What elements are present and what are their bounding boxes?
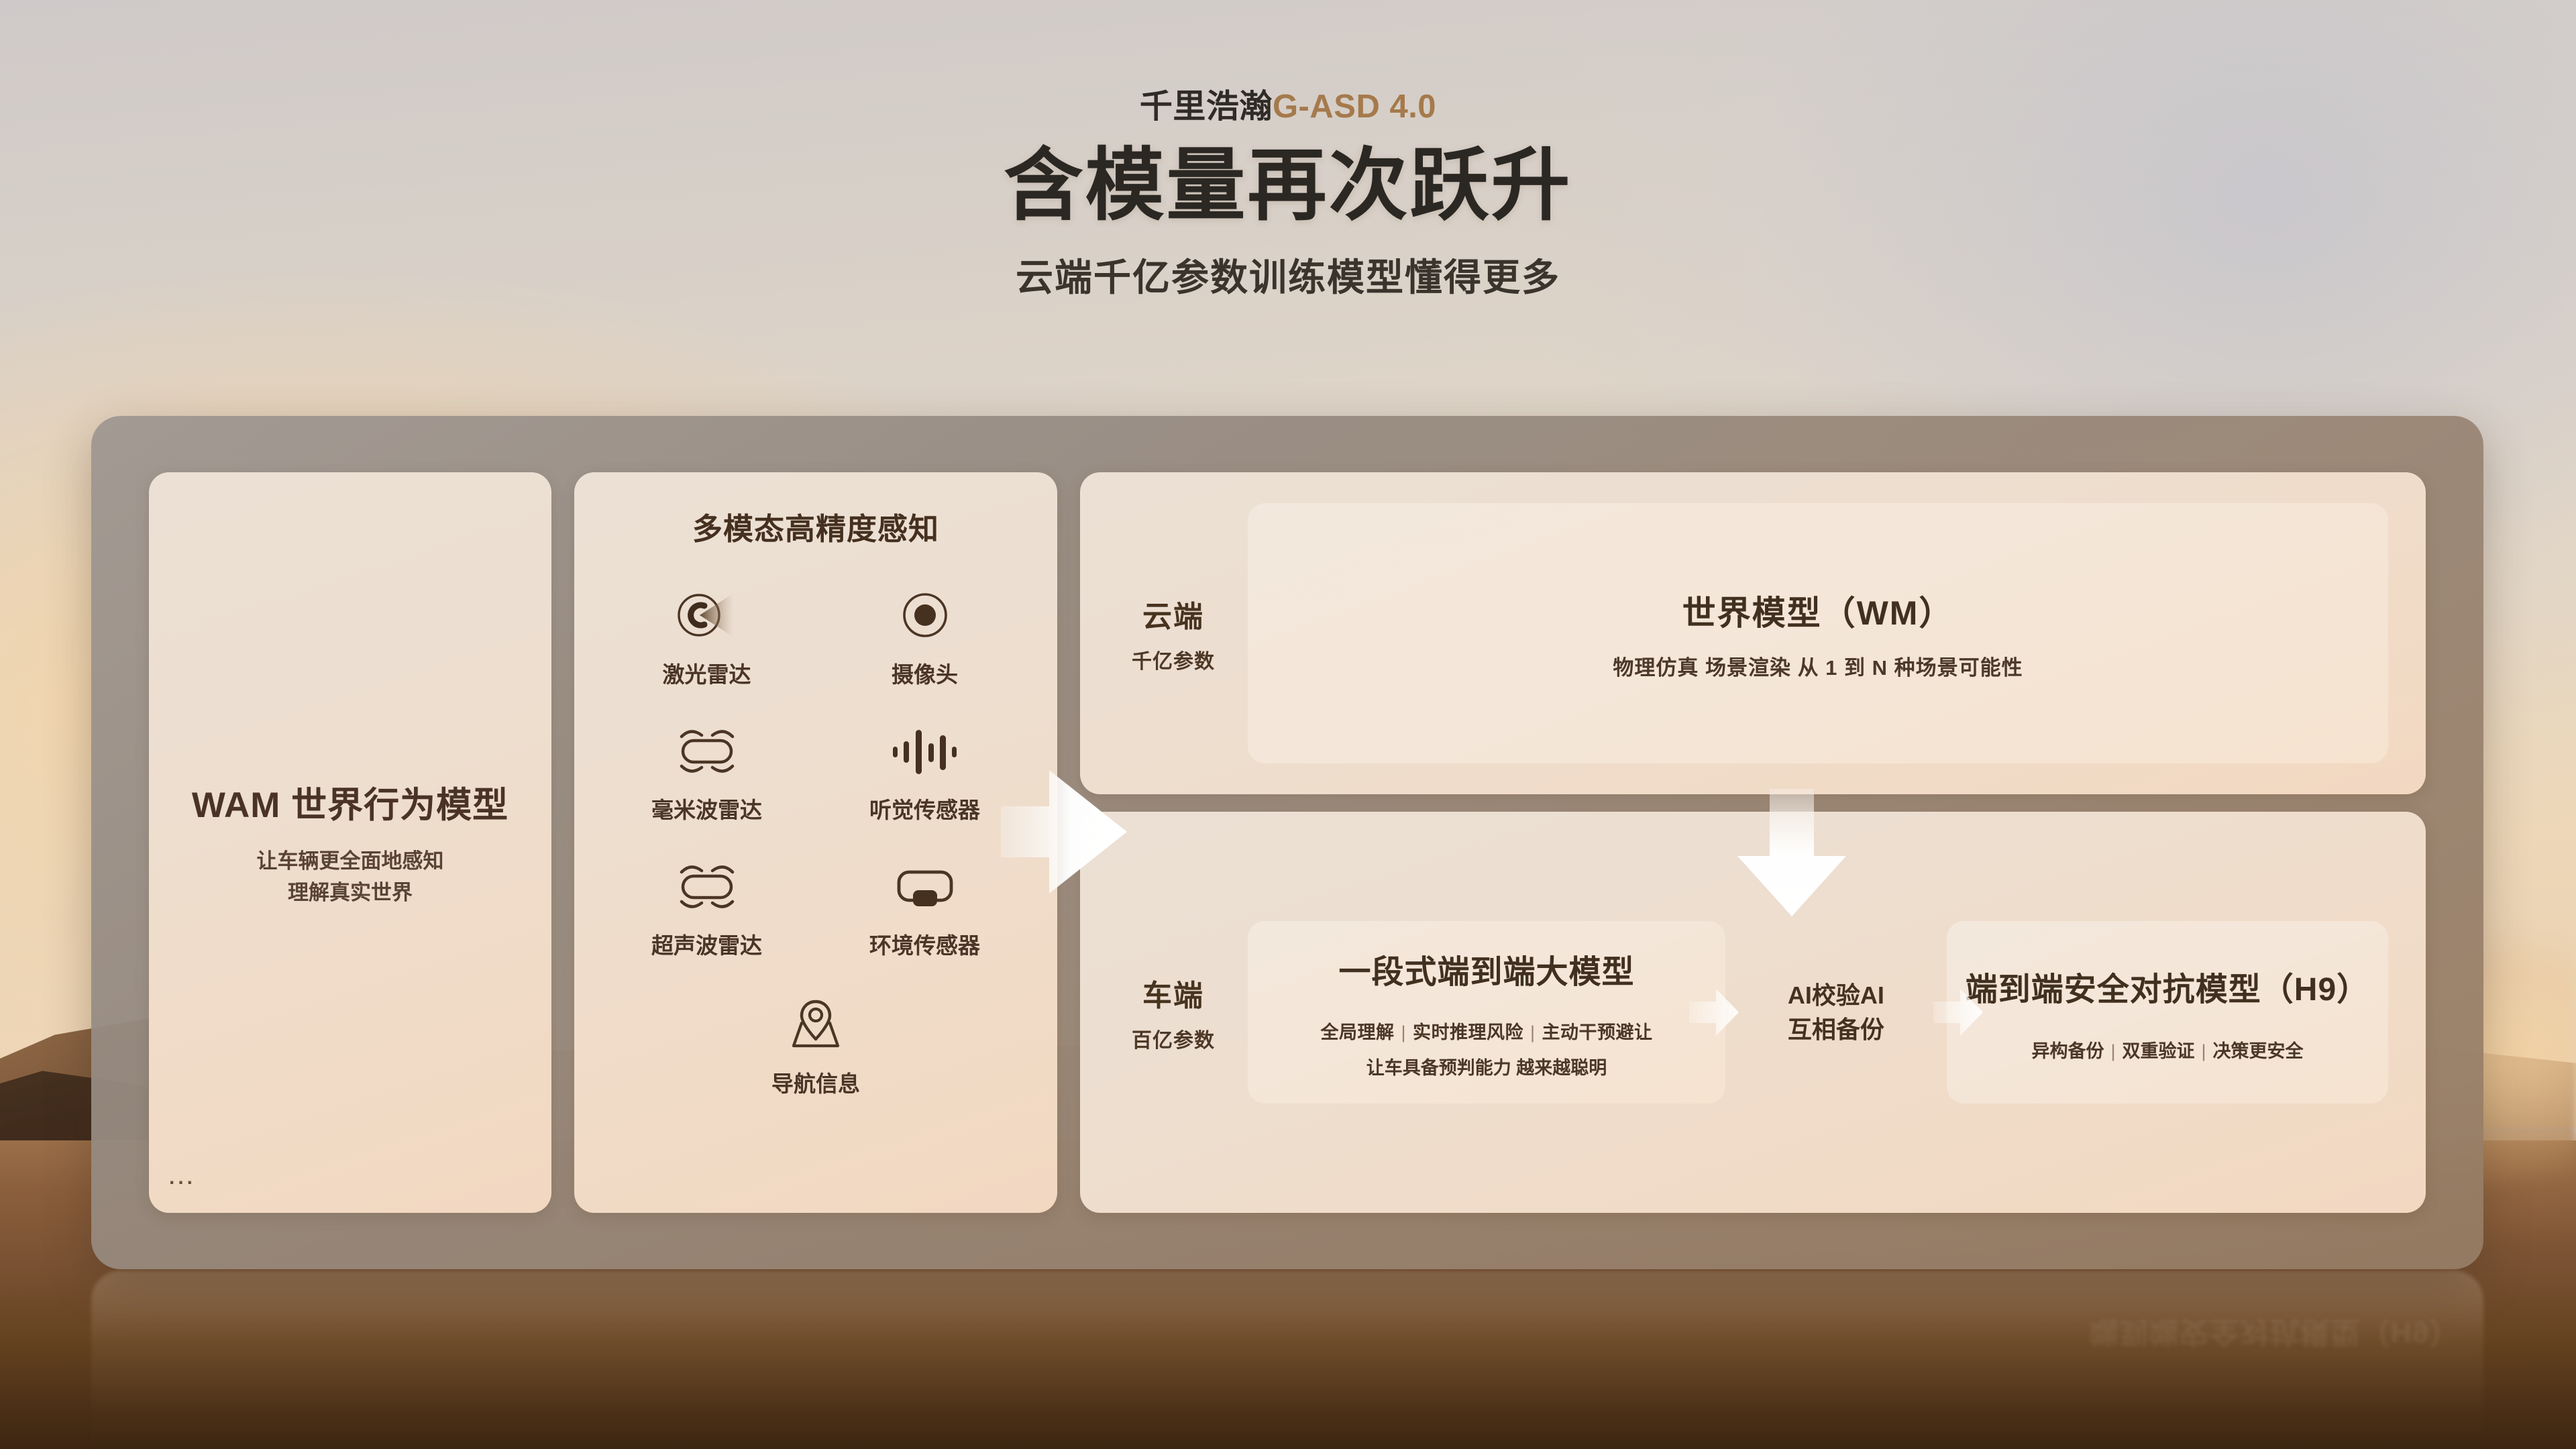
sensor-item-lidar: 激光雷达 (606, 580, 808, 689)
wam-card: WAM 世界行为模型 让车辆更全面地感知 理解真实世界 ... (149, 472, 551, 1213)
h9-title: 端到端安全对抗模型（H9） (1966, 963, 2369, 1010)
sensors-card: 多模态高精度感知 激光雷达 (574, 472, 1057, 1213)
end-to-end-tags: 全局理解|实时推理风险|主动干预避让 (1320, 1018, 1652, 1044)
cloud-tier-param: 千亿参数 (1099, 645, 1248, 674)
board-reflection (91, 1271, 2483, 1449)
sensor-item-ultrasonic-radar: 超声波雷达 (606, 851, 808, 960)
sensor-item-audio: 听觉传感器 (824, 716, 1026, 824)
h9-tag-2: 双重验证 (2122, 1041, 2194, 1061)
page-subtitle: 云端千亿参数训练模型懂得更多 (0, 248, 2576, 302)
page-title: 含模量再次跃升 (0, 142, 2576, 230)
tag-separator: | (2110, 1041, 2115, 1061)
h9-card-reflection: 端到端安全对抗模型（H9） (1999, 1309, 2549, 1354)
sensor-item-navigation: 导航信息 (715, 989, 916, 1098)
end-to-end-tag-1: 全局理解 (1320, 1022, 1394, 1042)
navigation-icon (779, 989, 853, 1059)
sensor-label: 导航信息 (771, 1066, 860, 1098)
ultrasonic-radar-icon (668, 851, 746, 921)
sensor-item-environment: 环境传感器 (824, 851, 1026, 960)
sensors-title: 多模态高精度感知 (692, 504, 939, 548)
sensor-item-mmwave-radar: 毫米波雷达 (606, 716, 808, 824)
world-model-title: 世界模型（WM） (1682, 586, 1954, 635)
cloud-tier-name: 云端 (1099, 592, 1248, 635)
ai-cross-check-line2: 互相备份 (1788, 1012, 1884, 1046)
sensor-label: 听觉传感器 (869, 792, 980, 824)
vehicle-tier-label: 车端 百亿参数 (1080, 971, 1248, 1053)
wam-subtitle: 让车辆更全面地感知 理解真实世界 (257, 845, 444, 908)
tag-separator: | (1530, 1022, 1536, 1042)
cloud-tier-card: 云端 千亿参数 世界模型（WM） 物理仿真 场景渲染 从 1 到 N 种场景可能… (1080, 472, 2426, 794)
h9-tag-3: 决策更安全 (2212, 1041, 2303, 1061)
h9-tags: 异构备份|双重验证|决策更安全 (2031, 1036, 2303, 1063)
end-to-end-title: 一段式端到端大模型 (1338, 945, 1634, 992)
arrow-sensors-to-models-icon (1001, 765, 1128, 899)
product-eyebrow-cn: 千里浩瀚 (1140, 89, 1273, 125)
world-model-subtitle: 物理仿真 场景渲染 从 1 到 N 种场景可能性 (1613, 651, 2023, 681)
world-model-card: 世界模型（WM） 物理仿真 场景渲染 从 1 到 N 种场景可能性 (1248, 503, 2388, 763)
end-to-end-tag-3: 主动干预避让 (1542, 1022, 1652, 1042)
sensor-label: 激光雷达 (663, 657, 751, 689)
environment-sensor-icon (886, 851, 964, 921)
sensor-label: 毫米波雷达 (651, 792, 762, 824)
ai-cross-check-text: AI校验AI 互相备份 (1788, 978, 1884, 1046)
ai-cross-check-line1: AI校验AI (1788, 978, 1884, 1012)
wam-ellipsis: ... (169, 1174, 196, 1182)
audio-sensor-icon (886, 716, 964, 786)
sensor-label: 环境传感器 (869, 928, 980, 960)
sensor-grid: 激光雷达 摄像头 (601, 580, 1030, 1098)
sensor-label: 摄像头 (892, 657, 958, 689)
end-to-end-tag-2: 实时推理风险 (1413, 1022, 1523, 1042)
arrow-right-icon-left (1686, 982, 1741, 1042)
lidar-icon (672, 580, 742, 650)
arrow-right-icon-right (1931, 982, 1986, 1042)
mmwave-radar-icon (668, 716, 746, 786)
sensor-item-camera: 摄像头 (824, 580, 1026, 689)
tag-separator: | (2201, 1041, 2206, 1061)
camera-icon (893, 580, 957, 650)
ai-cross-check-block: AI校验AI 互相备份 (1725, 921, 1947, 1104)
slide-header: 千里浩瀚G-ASD 4.0 含模量再次跃升 云端千亿参数训练模型懂得更多 (0, 87, 2576, 302)
h9-safety-model-card: 端到端安全对抗模型（H9） 异构备份|双重验证|决策更安全 (1947, 921, 2388, 1104)
vehicle-tier-name: 车端 (1099, 971, 1248, 1014)
end-to-end-subtitle: 让车具备预判能力 越来越聪明 (1366, 1053, 1607, 1079)
h9-tag-1: 异构备份 (2031, 1041, 2104, 1061)
vehicle-models-row: 一段式端到端大模型 全局理解|实时推理风险|主动干预避让 让车具备预判能力 越来… (1248, 921, 2388, 1104)
cloud-tier-label: 云端 千亿参数 (1080, 592, 1248, 674)
vehicle-tier-param: 百亿参数 (1099, 1024, 1248, 1053)
wam-subtitle-line2: 理解真实世界 (257, 877, 444, 908)
tag-separator: | (1401, 1022, 1406, 1042)
product-eyebrow: 千里浩瀚G-ASD 4.0 (0, 87, 2576, 127)
arrow-cloud-to-vehicle-icon (1735, 789, 1849, 920)
sensor-label: 超声波雷达 (651, 928, 762, 960)
end-to-end-model-card: 一段式端到端大模型 全局理解|实时推理风险|主动干预避让 让车具备预判能力 越来… (1248, 921, 1725, 1104)
architecture-board: WAM 世界行为模型 让车辆更全面地感知 理解真实世界 ... 多模态高精度感知 (91, 416, 2483, 1269)
product-eyebrow-en: G-ASD 4.0 (1273, 89, 1436, 125)
wam-subtitle-line1: 让车辆更全面地感知 (257, 845, 444, 877)
wam-title: WAM 世界行为模型 (192, 777, 508, 828)
